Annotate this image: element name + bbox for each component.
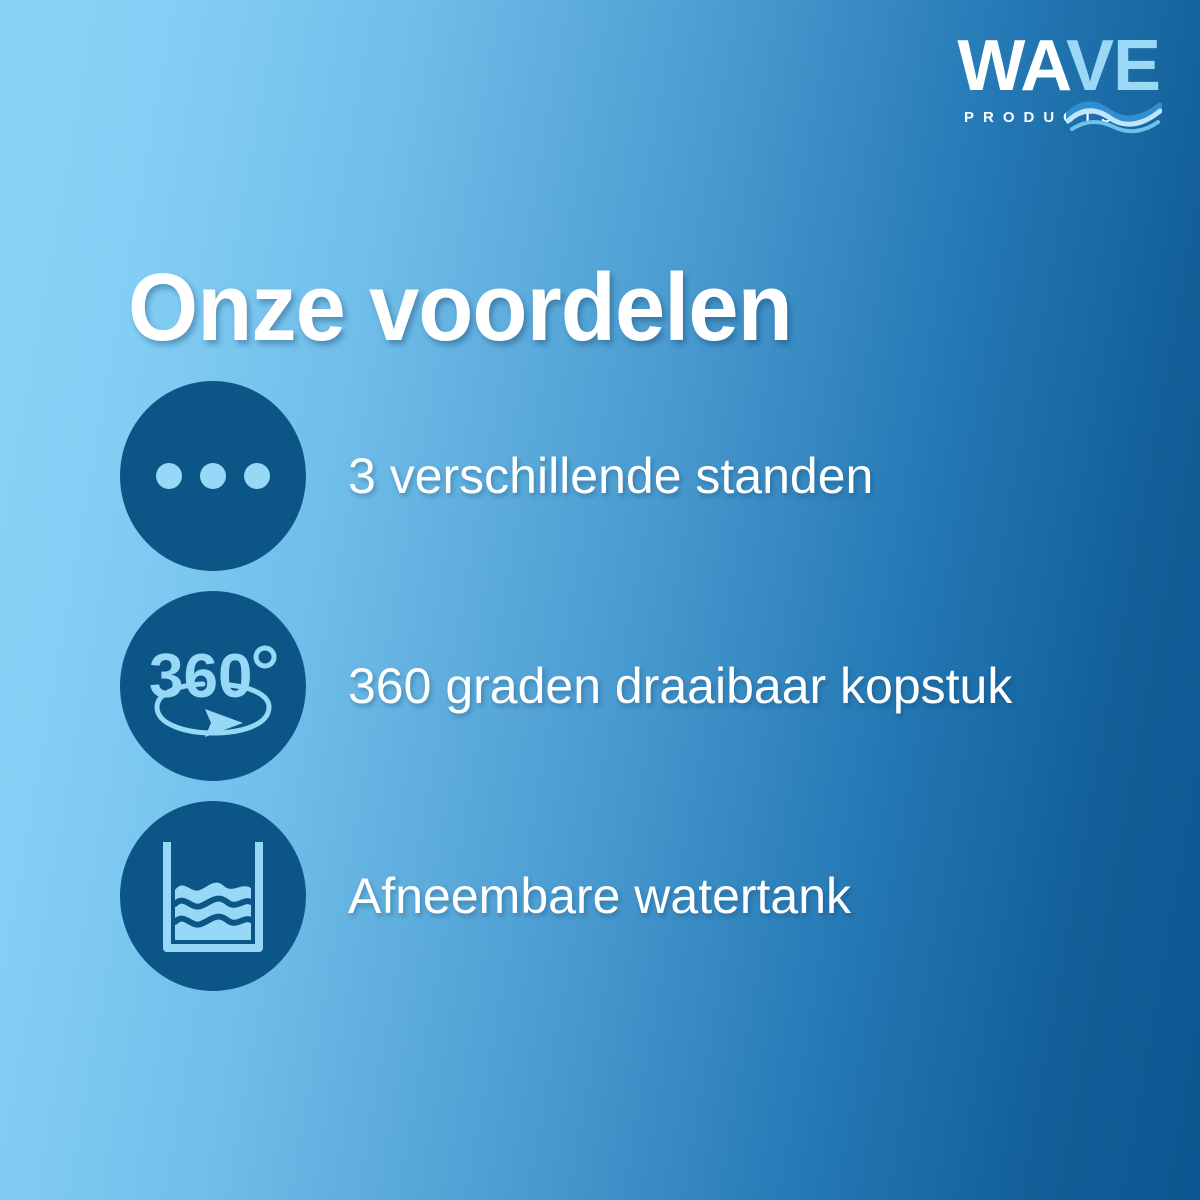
logo-wordmark-secondary: VE: [1066, 26, 1160, 106]
tank-water-fill-icon: [175, 883, 251, 940]
logo-wordmark: WAVE: [957, 30, 1160, 102]
benefit-icon-circle: 360: [120, 591, 306, 781]
benefit-icon-circle: [120, 381, 306, 571]
brand-logo: WAVE PRODUCTS: [942, 30, 1162, 135]
degree-symbol-icon: [256, 648, 274, 666]
benefit-label: 360 graden draaibaar kopstuk: [348, 657, 1012, 715]
promo-graphic: WAVE PRODUCTS Onze voordelen 3 verschill…: [0, 0, 1200, 1200]
water-tank-icon: [157, 838, 269, 954]
dot-2: [200, 463, 226, 489]
benefit-item-modes: 3 verschillende standen: [120, 381, 1120, 571]
benefit-label: Afneembare watertank: [348, 867, 851, 925]
dot-1: [156, 463, 182, 489]
three-dots-icon: [156, 463, 270, 489]
page-title: Onze voordelen: [128, 256, 792, 360]
rotate-360-degrees-icon: 360: [143, 631, 283, 741]
logo-wordmark-primary: WA: [957, 26, 1066, 106]
benefit-icon-circle: [120, 801, 306, 991]
benefit-item-watertank: Afneembare watertank: [120, 801, 1120, 991]
benefit-label: 3 verschillende standen: [348, 447, 873, 505]
wave-mark-icon: [1066, 96, 1162, 136]
rotate-360-label: 360: [149, 642, 252, 711]
benefits-list: 3 verschillende standen 360 360 graden d…: [120, 381, 1120, 991]
dot-3: [244, 463, 270, 489]
benefit-item-rotation: 360 360 graden draaibaar kopstuk: [120, 591, 1120, 781]
